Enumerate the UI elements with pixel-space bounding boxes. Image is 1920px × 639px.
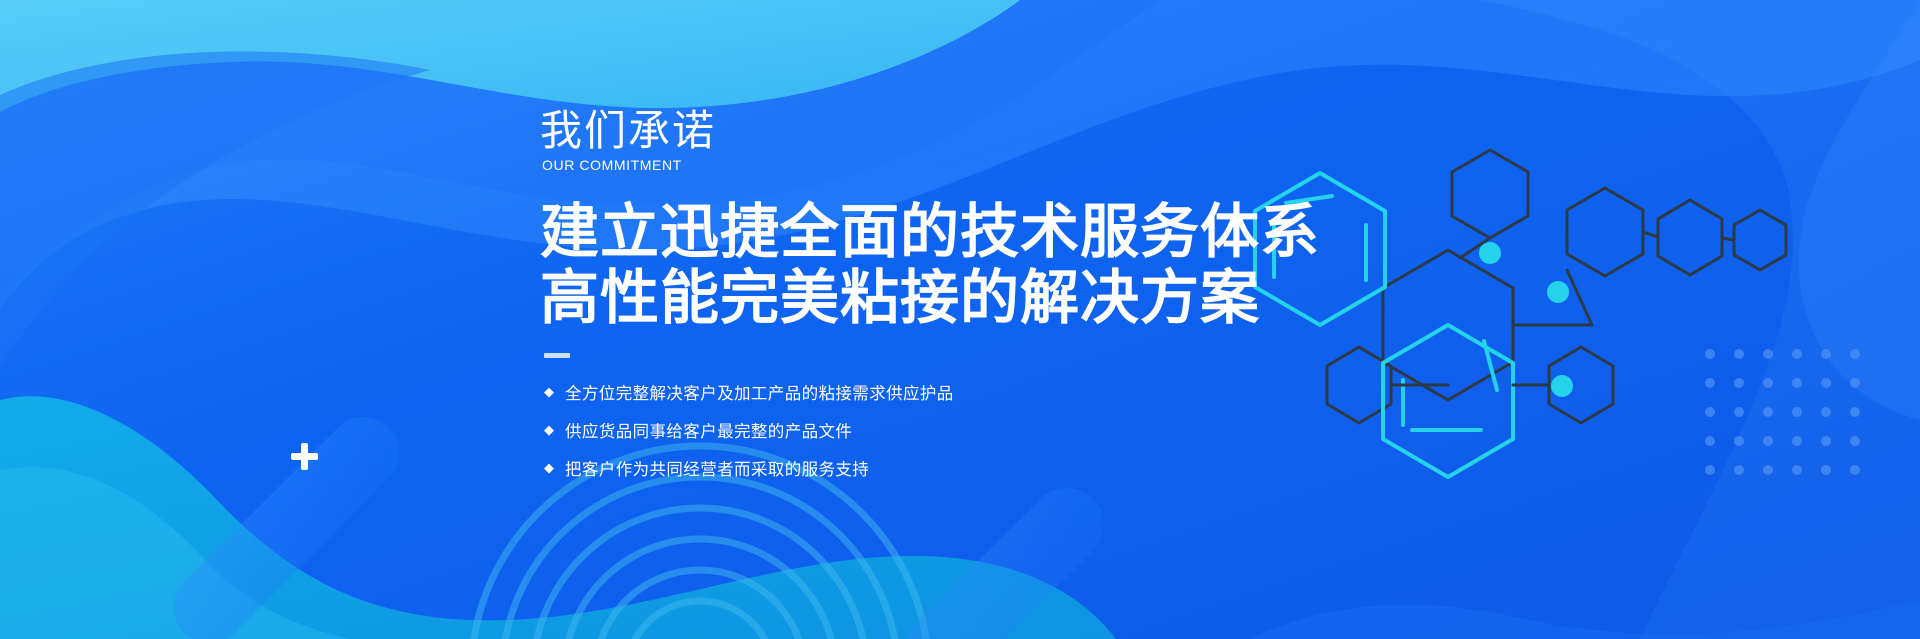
plus-icon-vertical-bar xyxy=(301,443,308,470)
molecule-node-b xyxy=(1547,281,1569,303)
hexagon-dark-mid-c xyxy=(1734,210,1786,270)
capsule-center xyxy=(890,473,1119,639)
diamond-icon: ◆ xyxy=(544,423,554,436)
headline-line-2: 高性能完美粘接的解决方案 xyxy=(540,265,1360,331)
eyebrow-title-en: OUR COMMITMENT xyxy=(542,157,1360,173)
list-item: ◆ 供应货品同事给客户最完整的产品文件 xyxy=(544,418,1360,442)
wave-top-left-deep xyxy=(0,51,430,365)
dot-grid xyxy=(1705,349,1860,475)
bond-hexb-to-hexc xyxy=(1722,238,1734,240)
divider-rule xyxy=(544,353,570,358)
plus-icon xyxy=(291,443,318,470)
list-item-label: 供应货品同事给客户最完整的产品文件 xyxy=(565,418,852,442)
bond-right-to-hexa xyxy=(1567,270,1592,325)
wave-bottom-right xyxy=(1250,600,1920,639)
hexagon-dark-core xyxy=(1383,250,1513,400)
wave-top-right-inner xyxy=(1799,0,1920,420)
hexagon-dark-mid-a xyxy=(1567,188,1643,276)
diamond-icon: ◆ xyxy=(544,385,554,398)
molecule-node-c xyxy=(1551,375,1573,397)
list-item-label: 全方位完整解决客户及加工产品的粘接需求供应护品 xyxy=(565,380,954,404)
diamond-icon: ◆ xyxy=(544,461,554,474)
eyebrow-title-cn: 我们承诺 xyxy=(540,110,1360,153)
bond-top-to-core xyxy=(1460,238,1490,258)
banner-content: 我们承诺 OUR COMMITMENT 建立迅捷全面的技术服务体系 高性能完美粘… xyxy=(540,110,1360,494)
list-item-label: 把客户作为共同经营者而采取的服务支持 xyxy=(565,456,869,480)
benzene-bond-lower-3 xyxy=(1484,341,1497,390)
hexagon-dark-lower-right xyxy=(1549,347,1613,423)
molecule-node-a xyxy=(1479,242,1501,264)
commitment-list: ◆ 全方位完整解决客户及加工产品的粘接需求供应护品 ◆ 供应货品同事给客户最完整… xyxy=(544,380,1360,480)
headline-line-1: 建立迅捷全面的技术服务体系 xyxy=(540,199,1360,265)
wave-bottom-left-cyan-light xyxy=(0,467,400,639)
hexagon-cyan-lower xyxy=(1383,325,1513,477)
hexagon-dark-top xyxy=(1452,150,1528,238)
hexagon-dark-mid-b xyxy=(1658,200,1722,275)
list-item: ◆ 把客户作为共同经营者而采取的服务支持 xyxy=(544,456,1360,480)
list-item: ◆ 全方位完整解决客户及加工产品的粘接需求供应护品 xyxy=(544,380,1360,404)
wave-top-left-cyan xyxy=(0,0,1020,112)
bond-hexa-to-hexb xyxy=(1643,232,1658,237)
headline: 建立迅捷全面的技术服务体系 高性能完美粘接的解决方案 xyxy=(540,199,1360,331)
wave-top-right xyxy=(1480,0,1920,639)
commitment-banner: 我们承诺 OUR COMMITMENT 建立迅捷全面的技术服务体系 高性能完美粘… xyxy=(0,0,1920,639)
capsule-left xyxy=(158,402,414,639)
